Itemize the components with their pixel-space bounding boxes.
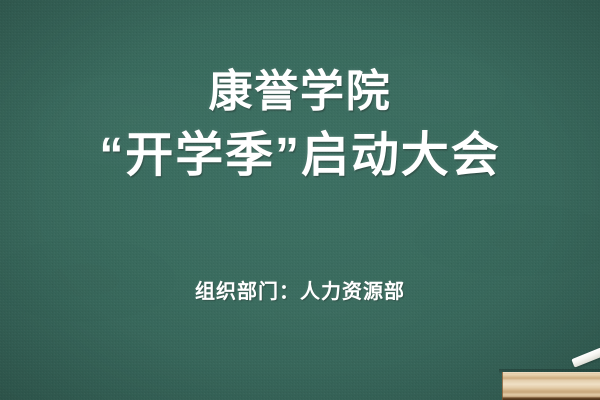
chalkboard-title-slide: 康誉学院 “开学季”启动大会 组织部门：人力资源部 bbox=[0, 0, 600, 400]
page-title-line-1: 康誉学院 bbox=[0, 70, 600, 114]
slide-content: 康誉学院 “开学季”启动大会 组织部门：人力资源部 bbox=[0, 0, 600, 400]
slide-subtitle: 组织部门：人力资源部 bbox=[0, 275, 600, 304]
chalk-tray-wood bbox=[502, 372, 600, 400]
chalk-tray bbox=[502, 372, 600, 400]
page-title-line-2: “开学季”启动大会 bbox=[0, 132, 600, 180]
